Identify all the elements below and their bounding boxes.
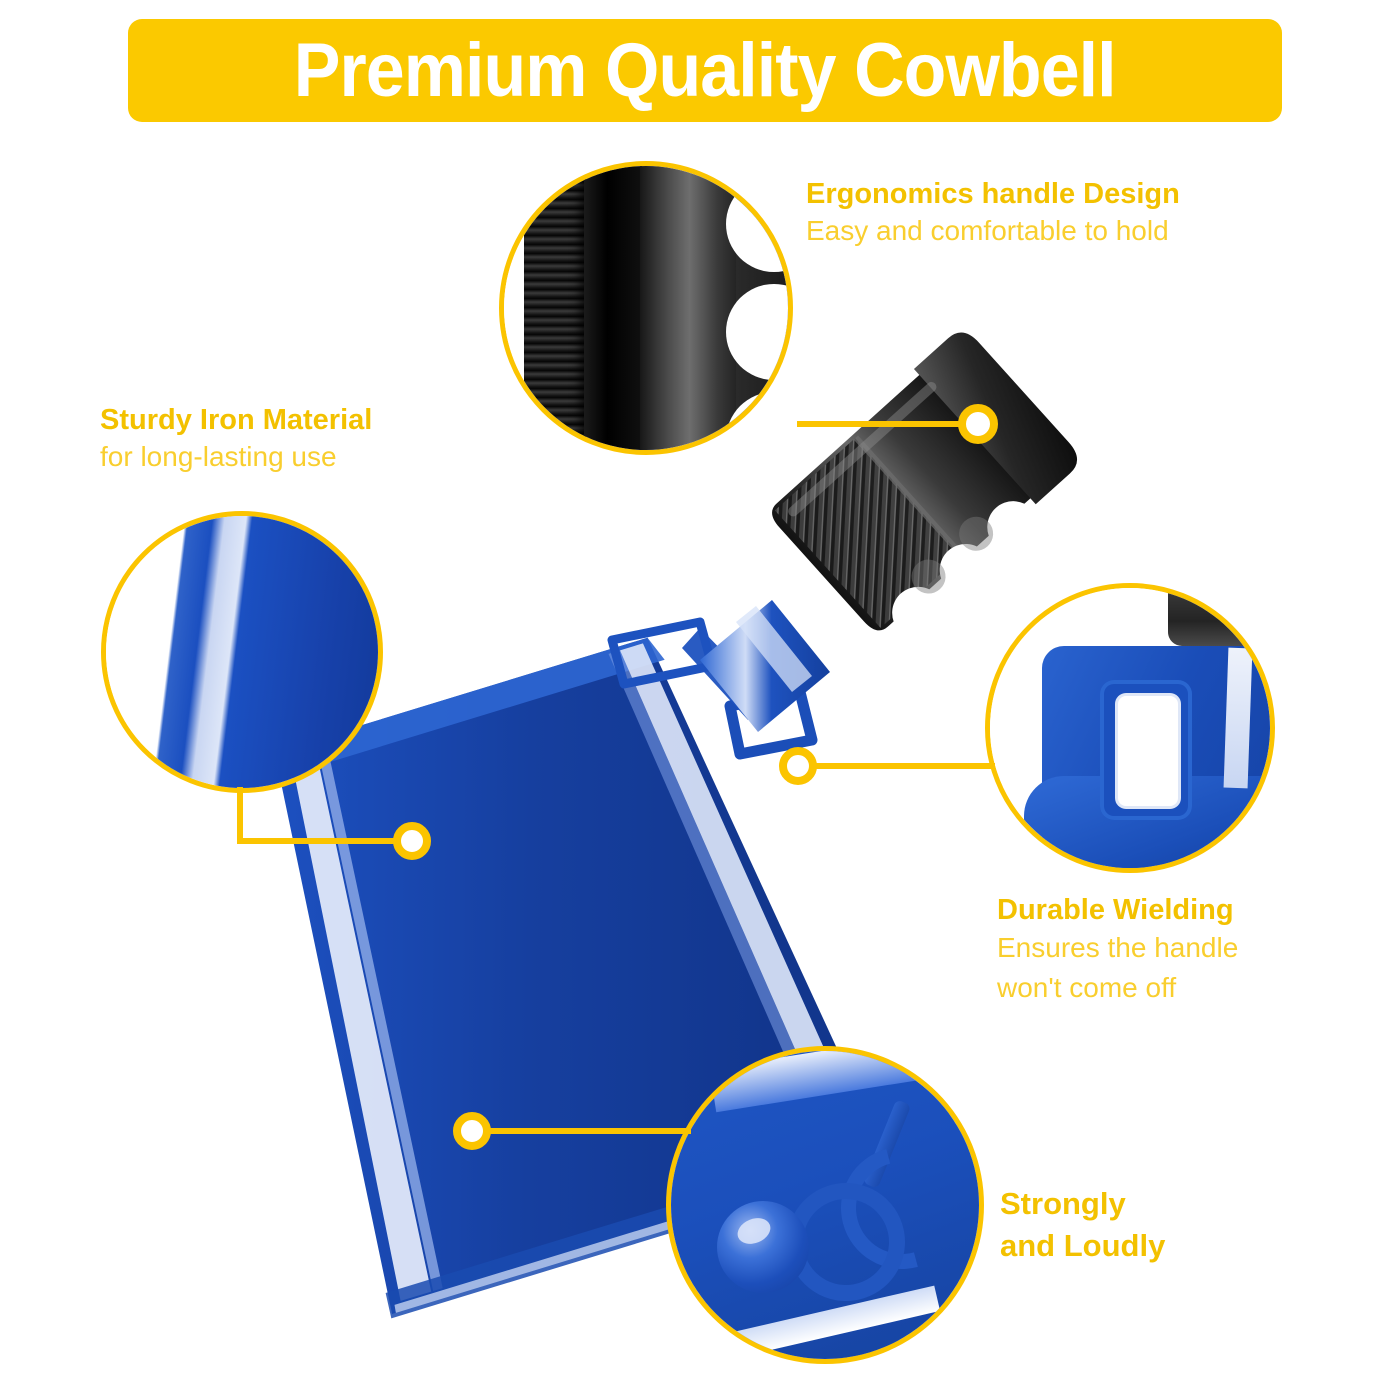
callout-welding-subtitle-line-2: won't come off [997,971,1238,1005]
callout-sturdy-iron: Sturdy Iron Material for long-lasting us… [100,404,372,475]
inset-welded-bracket-closeup [985,583,1275,873]
callout-welding-subtitle-line-1: Ensures the handle [997,931,1238,965]
weld-highlight [1224,648,1253,789]
callout-ergonomics-subtitle-line-1: Easy and comfortable to hold [806,214,1180,248]
weld-loop-hole [1118,696,1178,806]
page-title: Premium Quality Cowbell [294,33,1116,109]
handle-ribs-texture [524,161,586,455]
iron-gloss-surface [106,516,378,788]
header-banner: Premium Quality Cowbell [128,19,1282,122]
callout-loud-title-line-2: and Loudly [1000,1225,1165,1267]
handle-base-cap [1168,584,1268,646]
callout-welding-title: Durable Wielding [997,894,1238,926]
handle-ridge [584,161,642,455]
callout-durable-wielding: Durable Wielding Ensures the handle won'… [997,894,1238,1005]
callout-sturdy-subtitle-line-1: for long-lasting use [100,440,372,474]
callout-strongly-loudly: Strongly and Loudly [1000,1183,1165,1267]
callout-ergonomics: Ergonomics handle Design Easy and comfor… [806,178,1180,249]
inset-blue-iron-closeup [101,511,383,793]
infographic-canvas: Premium Quality Cowbell [0,0,1400,1400]
clapper-ball [717,1201,809,1293]
callout-sturdy-title: Sturdy Iron Material [100,404,372,436]
callout-ergonomics-title: Ergonomics handle Design [806,178,1180,210]
inset-clapper-ball-closeup [666,1046,984,1364]
callout-loud-title-line-1: Strongly [1000,1183,1165,1225]
inset-ribbed-handle-closeup [499,161,793,455]
